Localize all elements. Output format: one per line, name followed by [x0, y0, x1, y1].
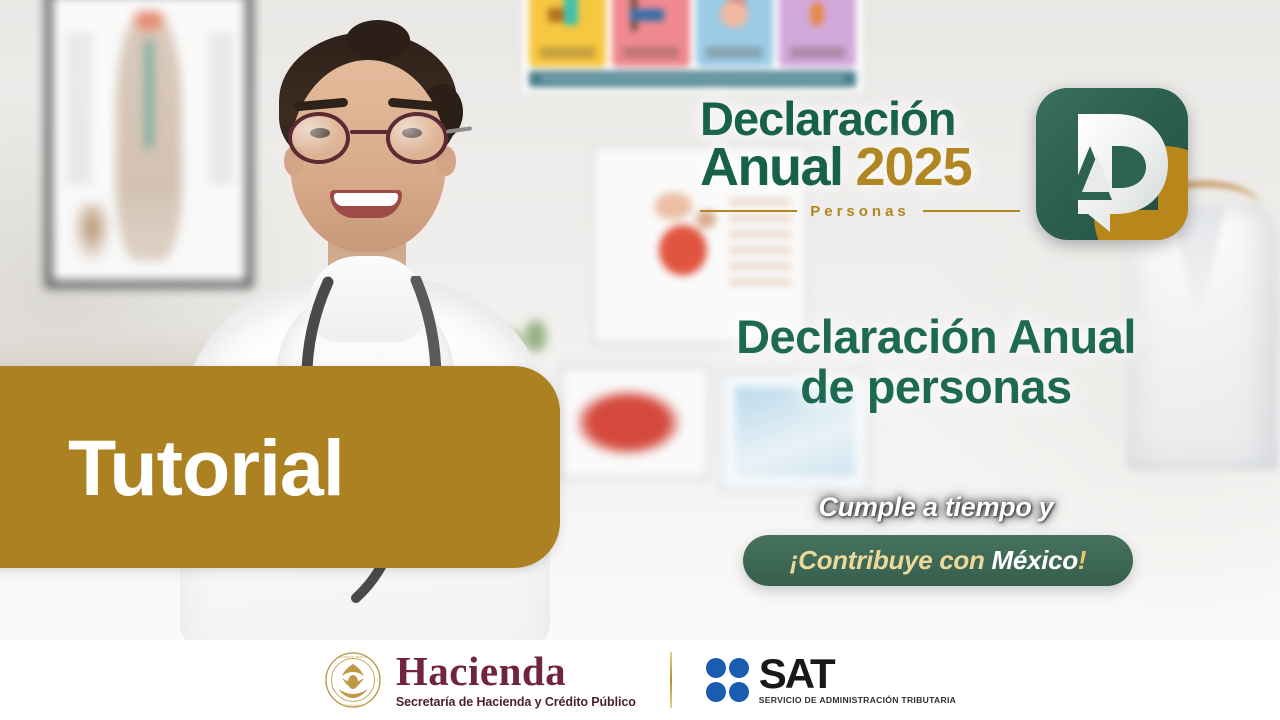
- mexico-national-seal-icon: ESTADOS UNIDOS MEXICANOS: [324, 651, 382, 709]
- page-title: Declaración Anual de personas: [646, 312, 1226, 412]
- sat-title: SAT: [759, 655, 956, 694]
- brand-subtitle-row: Personas: [700, 203, 1020, 220]
- brand-subtitle: Personas: [810, 203, 910, 220]
- health-habits-infographic-poster: [520, 0, 865, 95]
- declaracion-app-logo-icon: [1036, 88, 1188, 240]
- footer-logo-bar: ESTADOS UNIDOS MEXICANOS Hacienda Secret…: [0, 640, 1280, 720]
- brand-line-anual: Anual: [700, 142, 843, 194]
- tutorial-banner[interactable]: Tutorial: [0, 366, 560, 568]
- footer-divider-icon: [670, 652, 672, 708]
- eyeglasses-icon: [286, 112, 454, 164]
- brand-year: 2025: [856, 142, 972, 194]
- slogan-pill-suffix: !: [1078, 545, 1086, 575]
- slogan-pill: ¡Contribuye con México!: [743, 535, 1133, 586]
- sat-dots-logo-icon: [706, 658, 750, 702]
- slogan-pill-prefix: ¡Contribuye con: [790, 545, 992, 575]
- hacienda-logo: ESTADOS UNIDOS MEXICANOS Hacienda Secret…: [324, 651, 636, 709]
- brand-line-declaracion: Declaración: [700, 96, 1020, 141]
- slogan-pill-highlight: México: [992, 545, 1078, 575]
- hacienda-subtitle: Secretaría de Hacienda y Crédito Público: [396, 695, 636, 709]
- tutorial-label: Tutorial: [68, 428, 344, 507]
- sat-logo: SAT SERVICIO DE ADMINISTRACIÓN TRIBUTARI…: [706, 655, 956, 705]
- slogan-top-text: Cumple a tiempo y: [646, 492, 1226, 523]
- hacienda-title: Hacienda: [396, 651, 636, 692]
- declaracion-anual-brand-lockup: Declaración Anual 2025 Personas: [700, 96, 1020, 220]
- headline-line-1: Declaración Anual: [646, 312, 1226, 362]
- svg-text:MEXICANOS: MEXICANOS: [344, 704, 363, 708]
- rule-left-icon: [700, 210, 797, 212]
- rule-right-icon: [923, 210, 1020, 212]
- headline-line-2: de personas: [646, 362, 1226, 412]
- tutorial-cover-slide: Tutorial Declaración Anual 2025 Personas: [0, 0, 1280, 720]
- svg-text:ESTADOS UNIDOS: ESTADOS UNIDOS: [339, 655, 366, 659]
- sat-subtitle: SERVICIO DE ADMINISTRACIÓN TRIBUTARIA: [759, 695, 956, 705]
